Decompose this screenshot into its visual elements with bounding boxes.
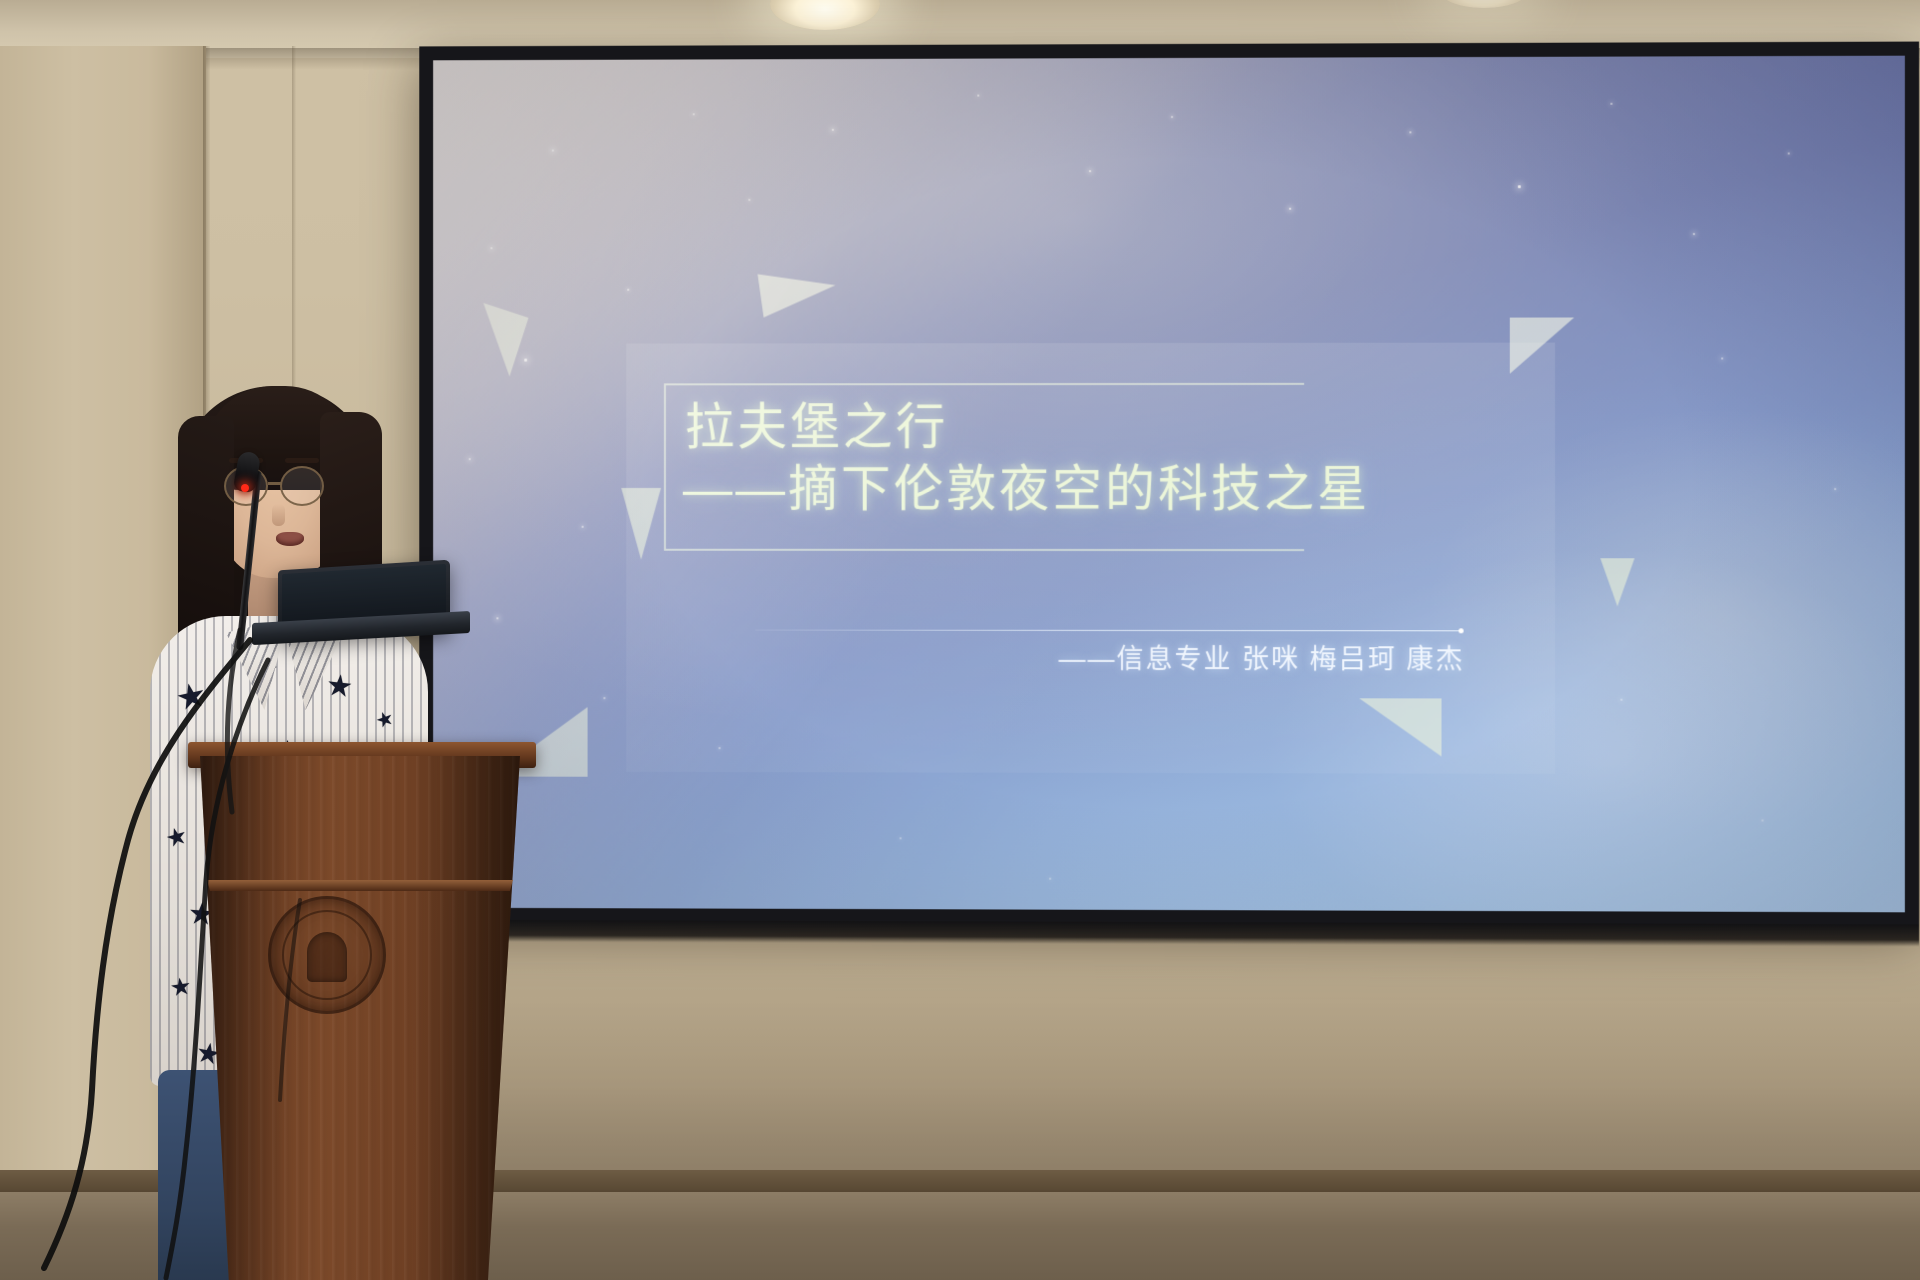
seal-glyph [307, 932, 347, 982]
podium-shading [200, 756, 520, 1280]
presenter-eyebrow-right [285, 458, 319, 463]
university-seal-icon [268, 896, 386, 1014]
microphone-led-indicator [241, 484, 249, 492]
glasses-bridge-icon [268, 482, 282, 485]
presenter-nose [272, 504, 285, 526]
podium-trim-band [207, 880, 513, 891]
presenter-mouth [276, 532, 304, 546]
photo-scene: 拉夫堡之行 ——摘下伦敦夜空的科技之星 ——信息专业 张咪 梅吕珂 康杰 ★★★… [0, 0, 1920, 1280]
projection-screen-frame: 拉夫堡之行 ——摘下伦敦夜空的科技之星 ——信息专业 张咪 梅吕珂 康杰 [419, 42, 1919, 927]
screen-vignette [433, 56, 1905, 913]
shirt-star-icon: ★ [325, 671, 355, 704]
shirt-star-icon: ★ [168, 975, 193, 1002]
podium [200, 756, 520, 1280]
glasses-right-lens-icon [280, 466, 324, 506]
projection-screen-surface: 拉夫堡之行 ——摘下伦敦夜空的科技之星 ——信息专业 张咪 梅吕珂 康杰 [433, 56, 1905, 913]
